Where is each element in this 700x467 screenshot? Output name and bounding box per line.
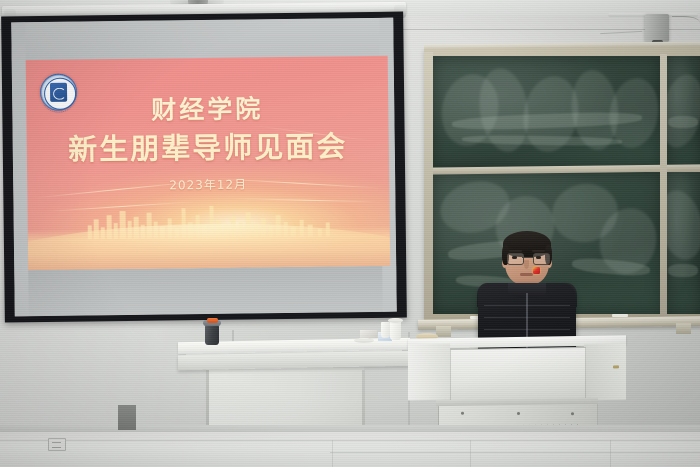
small-box: [360, 330, 377, 338]
slide-title-line1: 财经学院: [26, 88, 388, 128]
wall-panel-dark: [118, 405, 136, 430]
eye-right: [536, 256, 541, 259]
paper-cup: [381, 322, 390, 338]
blackboard-panel-bottom-right: [666, 172, 700, 314]
presentation-slide: 财经学院 新生朋辈导师见面会 2023年12月: [26, 56, 391, 270]
slide-bottom-gradient: [28, 226, 390, 270]
eyebrow-right: [532, 250, 545, 252]
cup-lid: [388, 318, 403, 323]
desk-front-apron: [178, 351, 410, 370]
floor: [0, 432, 700, 467]
blackboard-frame-left: [424, 52, 433, 318]
wall-outlet[interactable]: [48, 438, 66, 451]
paper-plate: [354, 338, 374, 343]
lectern-latch: [613, 365, 619, 368]
classroom-photo: 财经学院 新生朋辈导师见面会 2023年12月: [0, 0, 700, 467]
chalk-piece: [612, 314, 628, 317]
chalk-tray-bracket-right: [676, 323, 691, 334]
eye-left: [512, 256, 517, 259]
thermos-tumbler: [205, 325, 219, 345]
cabinet-screw: [517, 412, 520, 415]
nose: [524, 260, 529, 269]
blackboard-mullion-vertical: [660, 54, 667, 316]
cabinet-screw: [461, 412, 464, 415]
paper-cup: [390, 321, 401, 340]
party-emblem-pin: [533, 267, 540, 274]
screen-blank-bottom: [14, 266, 397, 317]
eyebrow-left: [509, 250, 522, 252]
projection-screen-surface: 财经学院 新生朋辈导师见面会 2023年12月: [11, 18, 397, 317]
blackboard-panel-top-left: [432, 56, 662, 168]
tumbler-button: [207, 318, 218, 323]
mouth: [520, 273, 533, 276]
chalk-tray-bracket-left: [436, 326, 451, 337]
cabinet-screw: [571, 412, 574, 415]
lectern-wing-left: [408, 344, 450, 401]
lectern-front-panel: [450, 347, 586, 403]
screen-blank-top: [11, 18, 393, 61]
speaker: [478, 231, 576, 351]
blackboard-panel-top-right: [666, 56, 700, 168]
lens-left: [507, 253, 524, 265]
security-camera: [645, 14, 669, 42]
glasses-bridge: [522, 257, 533, 258]
projection-screen-frame: 财经学院 新生朋辈导师见面会 2023年12月: [1, 12, 407, 323]
lectern-wing-right: [584, 344, 626, 401]
lens-right: [533, 253, 550, 265]
camera-wire: [672, 16, 700, 27]
slide-title-line2: 新生朋辈导师见面会: [27, 123, 389, 169]
